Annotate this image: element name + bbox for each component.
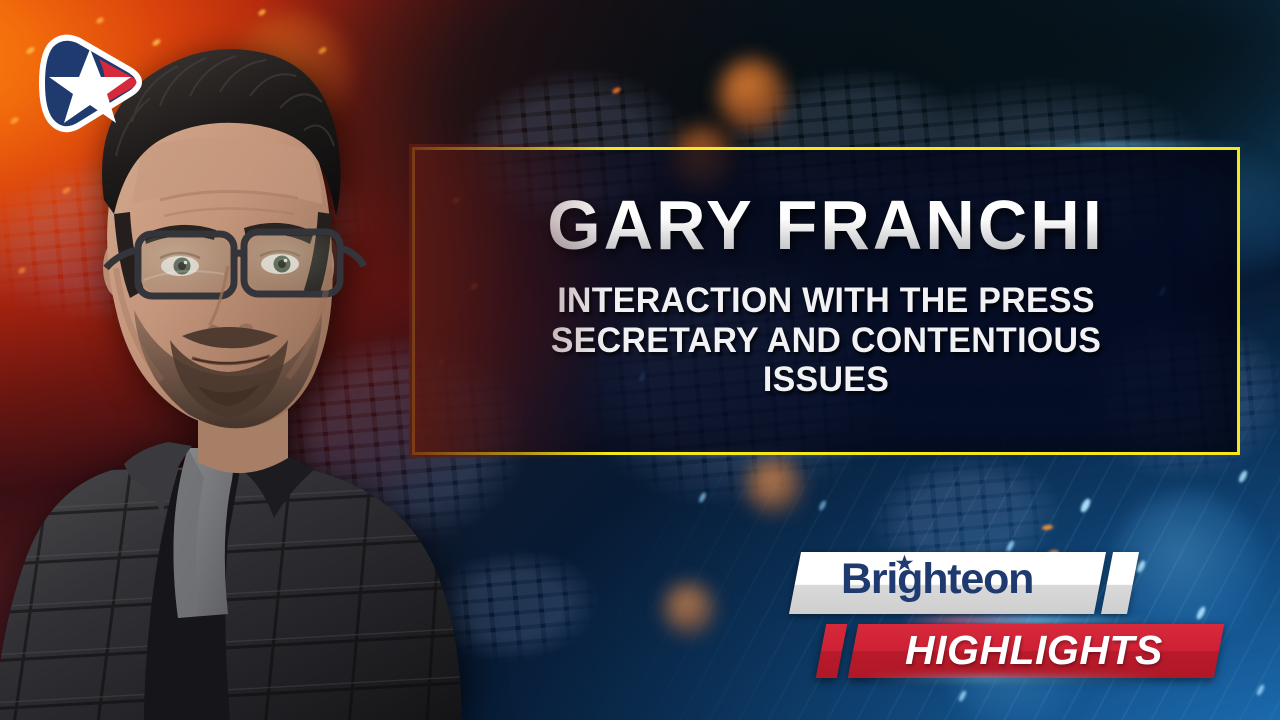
badge-bottom-slash — [816, 624, 847, 678]
subtitle-line: ISSUES — [462, 360, 1190, 400]
page-title: GARY FRANCHI — [459, 192, 1194, 259]
light-sweep — [1000, 143, 1250, 146]
subtitle-line: SECRETARY AND CONTENTIOUS — [462, 321, 1190, 361]
badge-label: HIGHLIGHTS — [905, 630, 1163, 671]
bokeh-orb — [718, 58, 786, 132]
video-thumbnail-stage: GARY FRANCHI INTERACTION WITH THE PRESS … — [0, 0, 1280, 720]
title-card: GARY FRANCHI INTERACTION WITH THE PRESS … — [412, 147, 1240, 455]
star-icon — [895, 554, 914, 573]
badge-divider-glow — [900, 618, 1150, 623]
subtitle: INTERACTION WITH THE PRESS SECRETARY AND… — [462, 281, 1190, 400]
badge-top-slash — [1101, 552, 1139, 614]
subtitle-line: INTERACTION WITH THE PRESS — [462, 281, 1190, 321]
brighteon-play-star-logo[interactable] — [33, 33, 145, 138]
brighteon-highlights-badge[interactable]: Brighteon HIGHLIGHTS — [795, 552, 1220, 678]
badge-bottom-glow — [865, 676, 1165, 681]
badge-brand-label: Brighteon — [841, 558, 1033, 601]
